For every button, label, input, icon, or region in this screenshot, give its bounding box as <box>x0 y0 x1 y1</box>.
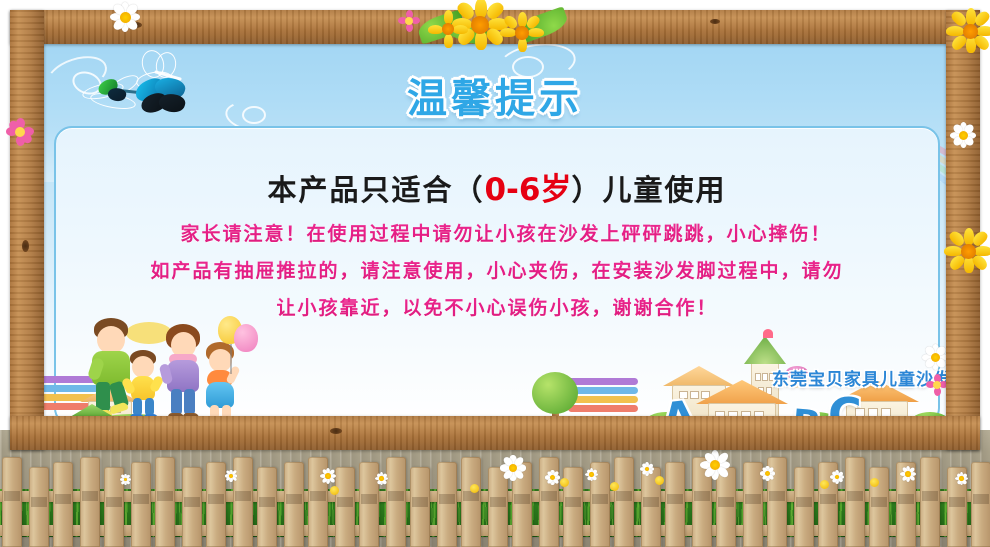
picket-fence <box>0 455 990 547</box>
daisy-icon <box>640 462 654 476</box>
buttercup-icon <box>560 478 569 487</box>
pink-flower-icon <box>926 374 948 396</box>
figure-boy <box>124 350 164 424</box>
fence-picket <box>410 467 430 547</box>
buttercup-icon <box>870 478 879 487</box>
daisy-icon <box>320 468 336 484</box>
daisy-icon <box>900 466 916 482</box>
fence-picket <box>335 467 355 547</box>
buttercup-icon <box>820 480 829 489</box>
fence-picket <box>2 457 22 547</box>
sunflower-bloom <box>428 10 468 48</box>
fence-picket <box>257 467 277 547</box>
balloon-string <box>230 344 232 374</box>
buttercup-icon <box>470 484 479 493</box>
figure-girl <box>200 342 242 424</box>
sunflower-right-lower <box>944 228 990 274</box>
fence-picket <box>155 457 175 547</box>
daisy-icon <box>120 474 131 485</box>
fence-picket <box>794 467 814 547</box>
daisy-icon <box>700 450 730 480</box>
poster-title: 温馨提示 <box>407 66 583 124</box>
fence-picket <box>182 467 202 547</box>
daisy-icon <box>830 470 844 484</box>
pink-flower-icon-left <box>6 118 34 146</box>
fence-picket <box>53 462 73 547</box>
poster-title-wrap: 温馨提示 <box>20 66 970 124</box>
headline-suffix: ）儿童使用 <box>572 173 727 207</box>
poster-artboard: 温馨提示 本产品只适合（0-6岁）儿童使用 家长请注意！在使用过程中请勿让小孩在… <box>20 22 970 442</box>
daisy-icon <box>500 455 526 481</box>
warning-line: 如产品有抽屉推拉的，请注意使用，小心夹伤，在安装沙发脚过程中，请勿 <box>56 253 938 290</box>
poster-canvas: 温馨提示 本产品只适合（0-6岁）儿童使用 家长请注意！在使用过程中请勿让小孩在… <box>0 0 990 547</box>
fence-picket <box>80 457 100 547</box>
daisy-icon <box>375 472 388 485</box>
frame-left <box>10 10 44 450</box>
fence-picket <box>614 457 634 547</box>
sunflower-top-right <box>946 8 990 54</box>
fence-picket <box>284 462 304 547</box>
daisy-icon-right-frame <box>950 122 976 148</box>
daisy-icon-top-left <box>110 2 140 32</box>
buttercup-icon <box>610 482 619 491</box>
sunflower-bloom <box>500 12 544 52</box>
fence-picket <box>920 457 940 547</box>
fence-picket <box>206 462 226 547</box>
age-range: 0-6岁 <box>484 172 571 208</box>
daisy-icon <box>760 466 775 481</box>
daisy-icon <box>585 468 598 481</box>
fence-picket <box>845 457 865 547</box>
fence-picket <box>386 457 406 547</box>
balloon-pink <box>234 324 258 352</box>
fence-picket <box>131 462 151 547</box>
warning-line: 家长请注意！在使用过程中请勿让小孩在沙发上砰砰跳跳，小心摔伤！ <box>56 216 938 253</box>
daisy-icon <box>955 472 968 485</box>
fence-picket <box>29 467 49 547</box>
buttercup-icon <box>655 476 664 485</box>
frame-bottom <box>10 416 980 450</box>
daisy-icon <box>225 470 237 482</box>
daisy-icon <box>545 470 560 485</box>
headline-prefix: 本产品只适合（ <box>267 173 484 207</box>
fence-picket <box>437 462 457 547</box>
fence-picket <box>971 462 990 547</box>
rainbow-bars-right <box>568 378 638 418</box>
buttercup-icon <box>330 486 339 495</box>
sunflower-top-center <box>408 0 576 50</box>
daisy-icon <box>922 344 948 370</box>
fence-picket <box>665 462 685 547</box>
fence-picket <box>461 457 481 547</box>
headline: 本产品只适合（0-6岁）儿童使用 <box>56 164 938 209</box>
